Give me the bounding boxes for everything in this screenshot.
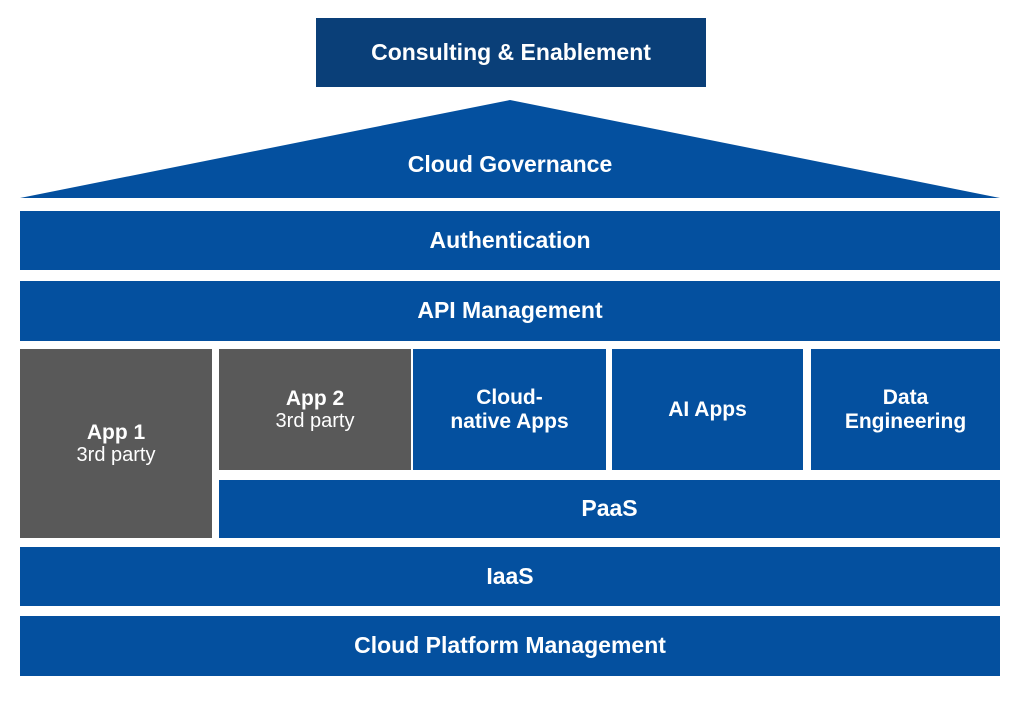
cloud-platform-management-layer: Cloud Platform Management	[20, 616, 1000, 676]
app-1-sublabel: 3rd party	[77, 444, 156, 466]
cloud-native-apps-box: Cloud- native Apps	[413, 349, 606, 470]
authentication-layer: Authentication	[20, 211, 1000, 270]
cloud-governance-roof: Cloud Governance	[20, 98, 1000, 198]
ai-apps-box: AI Apps	[612, 349, 803, 470]
ai-apps-label: AI Apps	[668, 398, 747, 422]
app-1-box: App 1 3rd party	[20, 349, 212, 538]
app-2-label: App 2	[286, 387, 344, 411]
data-engineering-box: Data Engineering	[811, 349, 1000, 470]
diagram-canvas: Consulting & Enablement Cloud Governance…	[0, 0, 1020, 707]
paas-label: PaaS	[581, 496, 637, 522]
data-engineering-label-line2: Engineering	[845, 410, 966, 434]
api-management-label: API Management	[417, 298, 602, 324]
consulting-and-enablement-box: Consulting & Enablement	[316, 18, 706, 87]
consulting-and-enablement-label: Consulting & Enablement	[371, 40, 651, 66]
data-engineering-label-line1: Data	[883, 386, 929, 410]
authentication-label: Authentication	[430, 228, 591, 254]
paas-layer: PaaS	[219, 480, 1000, 538]
iaas-label: IaaS	[486, 564, 533, 590]
cloud-platform-management-label: Cloud Platform Management	[354, 633, 666, 659]
app-1-label: App 1	[87, 421, 145, 445]
cloud-governance-label-wrap: Cloud Governance	[20, 98, 1000, 198]
cloud-governance-label: Cloud Governance	[408, 151, 612, 178]
cloud-native-apps-label-line1: Cloud-	[476, 386, 542, 410]
app-2-box: App 2 3rd party	[219, 349, 411, 470]
app-2-sublabel: 3rd party	[276, 410, 355, 432]
api-management-layer: API Management	[20, 281, 1000, 341]
cloud-native-apps-label-line2: native Apps	[450, 410, 568, 434]
iaas-layer: IaaS	[20, 547, 1000, 606]
